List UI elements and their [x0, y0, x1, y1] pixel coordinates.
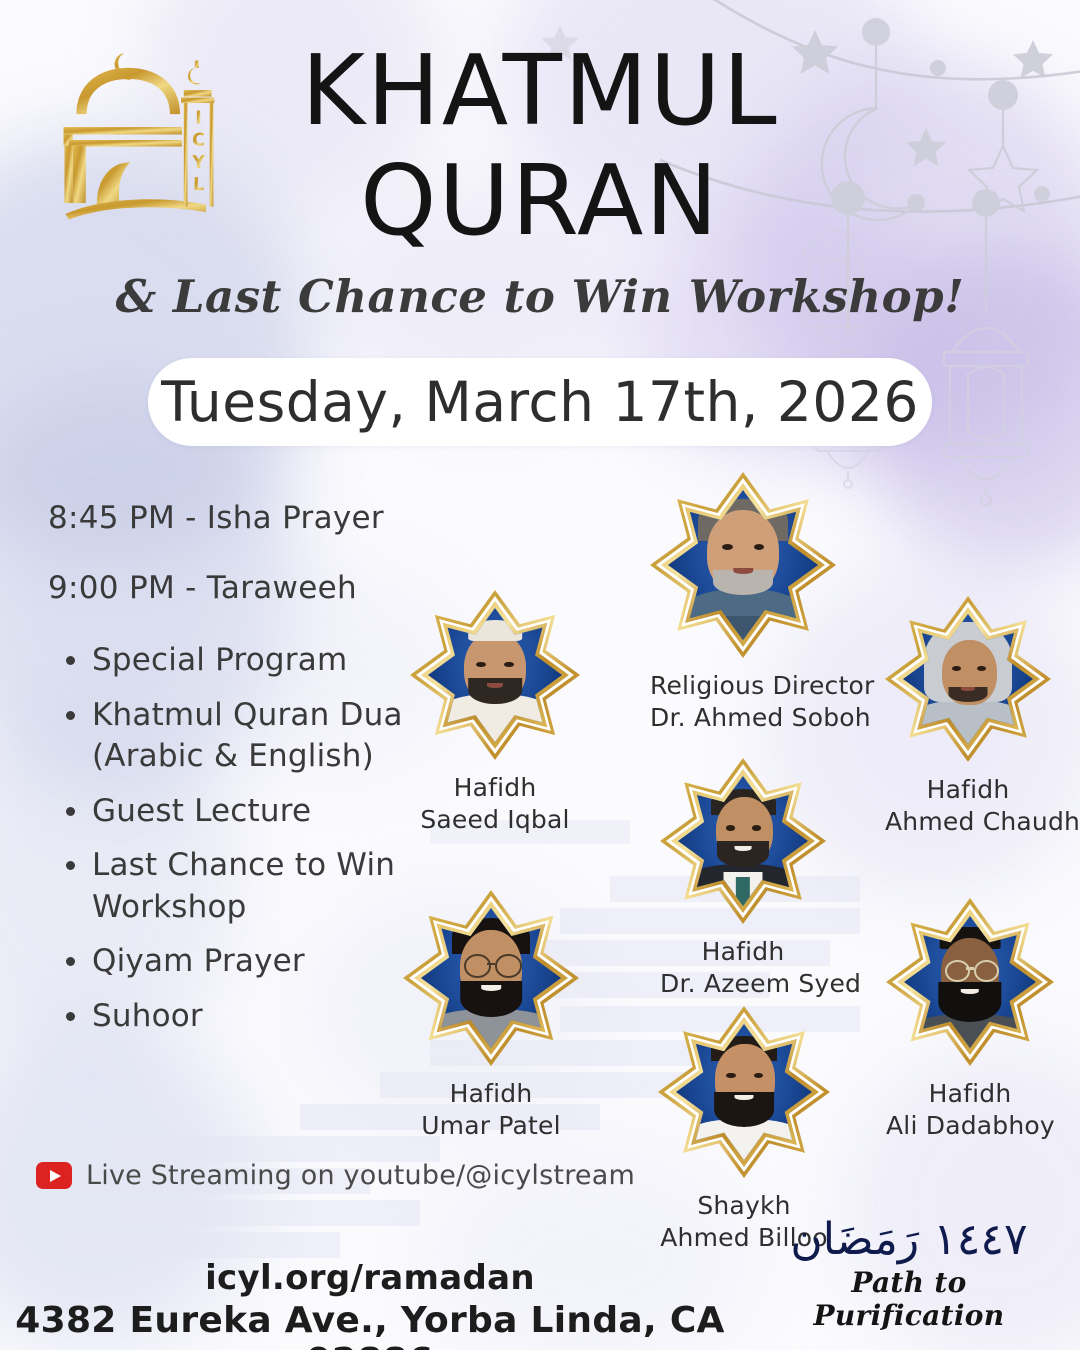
speaker-name: Ahmed Chaudhry — [885, 806, 1051, 838]
list-item: Qiyam Prayer — [92, 941, 448, 983]
list-item: Last Chance to Win Workshop — [92, 845, 448, 928]
page-title-line-2: QURAN — [0, 152, 1080, 249]
star-frame — [886, 898, 1054, 1066]
speaker-card-azeem-syed: Hafidh Dr. Azeem Syed — [660, 758, 826, 924]
speaker-card-ahmed-billoo: Shaykh Ahmed Billoo — [658, 1006, 830, 1178]
youtube-icon[interactable] — [36, 1162, 72, 1189]
star-frame — [410, 590, 580, 760]
speaker-role: Hafidh — [660, 936, 826, 968]
live-stream-text: Live Streaming on youtube/@icylstream — [86, 1160, 635, 1191]
speaker-caption: Hafidh Dr. Azeem Syed — [660, 936, 826, 1000]
list-item: Suhoor — [92, 996, 448, 1038]
star-frame — [660, 758, 826, 924]
schedule-block: 8:45 PM - Isha Prayer 9:00 PM - Taraweeh… — [48, 500, 448, 1050]
speaker-role: Hafidh — [886, 1078, 1054, 1110]
speaker-card-umar-patel: Hafidh Umar Patel — [403, 890, 579, 1066]
venue-address: 4382 Eureka Ave., Yorba Linda, CA 92886 — [0, 1300, 740, 1350]
schedule-bullet-list: Special Program Khatmul Quran Dua (Arabi… — [48, 640, 448, 1037]
star-frame — [403, 890, 579, 1066]
speaker-caption: Hafidh Umar Patel — [403, 1078, 579, 1142]
live-stream-row[interactable]: Live Streaming on youtube/@icylstream — [36, 1160, 635, 1191]
star-frame — [650, 472, 836, 658]
avatar — [421, 908, 561, 1048]
speaker-role: Hafidh — [885, 774, 1051, 806]
ramadan-tagline: Path to Purification — [764, 1266, 1054, 1332]
speaker-caption: Hafidh Saeed Iqbal — [410, 772, 580, 836]
speaker-card-ahmed-chaudhry: Hafidh Ahmed Chaudhry — [885, 596, 1051, 762]
speaker-card-ahmed-soboh: Religious Director Dr. Ahmed Soboh — [650, 472, 836, 658]
speaker-caption: Hafidh Ahmed Chaudhry — [885, 774, 1051, 838]
ramadan-mark: ١٤٤٧ رَمَضَان Path to Purification — [764, 1216, 1054, 1332]
avatar — [678, 776, 808, 906]
poster-root: I C Y L KHATMUL QURAN & Last Chance to W… — [0, 0, 1080, 1350]
avatar — [903, 614, 1033, 744]
speaker-caption: Religious Director Dr. Ahmed Soboh — [650, 670, 836, 734]
avatar — [676, 1024, 812, 1160]
speaker-card-ali-dadabhoy: Hafidh Ali Dadabhoy — [886, 898, 1054, 1066]
schedule-taraweeh: 9:00 PM - Taraweeh — [48, 570, 448, 606]
speaker-role: Hafidh — [403, 1078, 579, 1110]
list-item: Khatmul Quran Dua (Arabic & English) — [92, 695, 448, 778]
star-frame — [885, 596, 1051, 762]
list-item: Special Program — [92, 640, 448, 682]
page-subtitle: & Last Chance to Win Workshop! — [0, 270, 1080, 323]
event-date-text: Tuesday, March 17th, 2026 — [161, 370, 919, 434]
website-url[interactable]: icyl.org/ramadan — [0, 1258, 740, 1298]
page-title-line-1: KHATMUL — [0, 42, 1080, 139]
schedule-isha: 8:45 PM - Isha Prayer — [48, 500, 448, 536]
list-item: Guest Lecture — [92, 791, 448, 833]
speaker-name: Dr. Ahmed Soboh — [650, 702, 836, 734]
event-date-banner: Tuesday, March 17th, 2026 — [148, 358, 932, 446]
avatar — [428, 608, 562, 742]
speaker-card-saeed-iqbal: Hafidh Saeed Iqbal — [410, 590, 580, 760]
ramadan-arabic-calligraphy: ١٤٤٧ رَمَضَان — [764, 1216, 1054, 1264]
speaker-name: Saeed Iqbal — [410, 804, 580, 836]
speaker-role: Religious Director — [650, 670, 836, 702]
star-frame — [658, 1006, 830, 1178]
speaker-name: Umar Patel — [403, 1110, 579, 1142]
speaker-name: Ali Dadabhoy — [886, 1110, 1054, 1142]
speaker-role: Hafidh — [410, 772, 580, 804]
speaker-caption: Hafidh Ali Dadabhoy — [886, 1078, 1054, 1142]
avatar — [668, 490, 818, 640]
speaker-name: Dr. Azeem Syed — [660, 968, 826, 1000]
avatar — [904, 916, 1036, 1048]
